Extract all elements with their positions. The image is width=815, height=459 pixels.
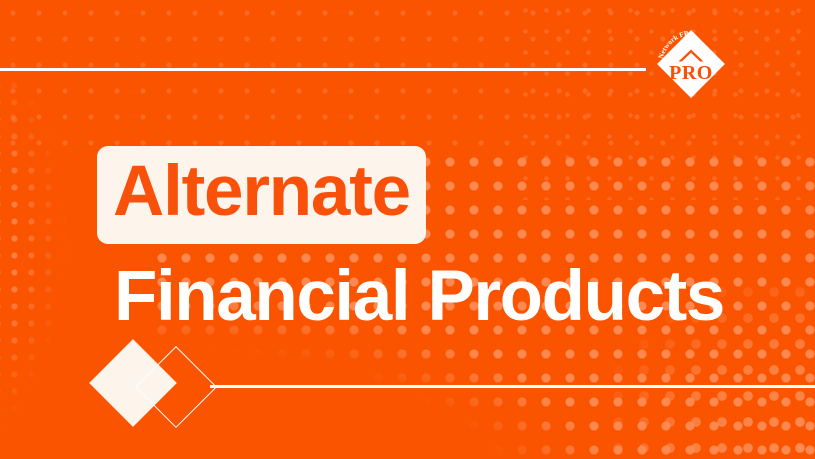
page-title: Alternate Financial Products [97,146,724,338]
top-divider-rule [0,68,646,71]
title-line-1: Alternate [113,149,410,235]
bottom-divider-rule [210,385,815,388]
title-line-2: Financial Products [114,256,724,338]
title-highlight-badge: Alternate [97,146,426,244]
network-fp-pro-logo: PRO Network FP [651,24,731,104]
title-slide: Alternate Financial Products PRO Network… [0,0,815,459]
logo-product-text: PRO [669,62,713,84]
logo-diamond-icon: PRO Network FP [651,24,731,104]
